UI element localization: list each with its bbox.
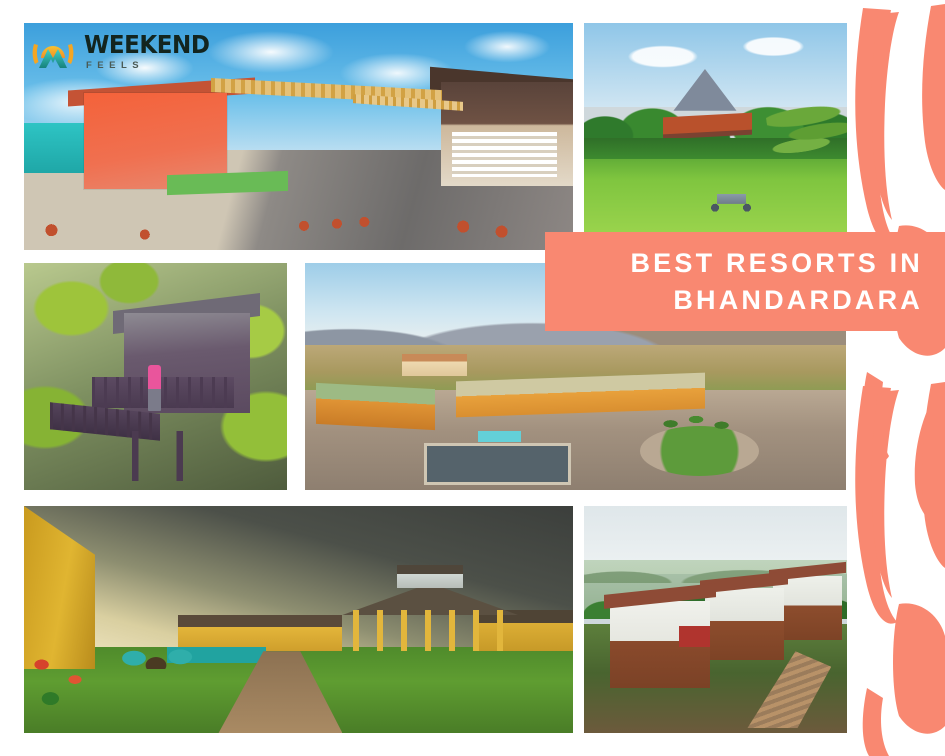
gallery-photo-bottom-left: Yellow resort complex with gazebo, swimm… bbox=[24, 506, 573, 733]
support-stilts bbox=[113, 431, 218, 481]
terracotta-planters bbox=[24, 205, 573, 241]
teal-signboard bbox=[478, 431, 521, 442]
artificial-lawn bbox=[167, 171, 288, 196]
title-line-1: BEST RESORTS IN bbox=[630, 245, 923, 281]
brand-wordmark: WEEKEND FEELS bbox=[84, 32, 220, 71]
garden-table-and-chairs bbox=[710, 182, 752, 215]
palm-tree bbox=[764, 88, 847, 171]
gallery-photo-bottom-right: Modern white and rust container cottages… bbox=[584, 506, 847, 733]
gallery-photo-mid-left: Purple wooden stilt cabins with balconie… bbox=[24, 263, 287, 490]
poster-canvas: Row of colourful orange and teal cottage… bbox=[0, 0, 945, 756]
sunken-court bbox=[424, 443, 571, 485]
red-panel-accent bbox=[679, 626, 711, 646]
brand-tagline: FEELS bbox=[86, 61, 220, 71]
right-ray bbox=[68, 44, 74, 64]
brush-stroke-group bbox=[855, 4, 945, 756]
brand-logo[interactable]: WEEKEND FEELS bbox=[30, 28, 220, 74]
guest-on-balcony bbox=[148, 365, 161, 410]
title-banner: BEST RESORTS IN BHANDARDARA bbox=[545, 232, 945, 331]
weekend-feels-sun-mountain-logo-icon bbox=[30, 28, 76, 74]
title-line-2: BHANDARDARA bbox=[673, 282, 923, 318]
island-palms bbox=[651, 413, 748, 449]
brand-name: WEEKEND bbox=[84, 32, 209, 57]
coral-brush-stroke-pattern bbox=[845, 0, 945, 756]
white-slat-fence bbox=[452, 132, 556, 177]
gallery-photo-top-right: Green lawn and garden with a red tiled r… bbox=[584, 23, 847, 232]
left-ray bbox=[33, 44, 39, 64]
container-cottage-2 bbox=[705, 588, 784, 661]
balcony-railing bbox=[92, 377, 234, 409]
teal-cottage bbox=[24, 123, 90, 173]
gazebo-cupola bbox=[397, 565, 463, 588]
side-cottage-block bbox=[316, 382, 435, 429]
garden-domes bbox=[112, 642, 222, 669]
flower-bed bbox=[24, 651, 112, 719]
distant-building bbox=[402, 354, 467, 377]
gazebo-columns bbox=[353, 610, 518, 651]
